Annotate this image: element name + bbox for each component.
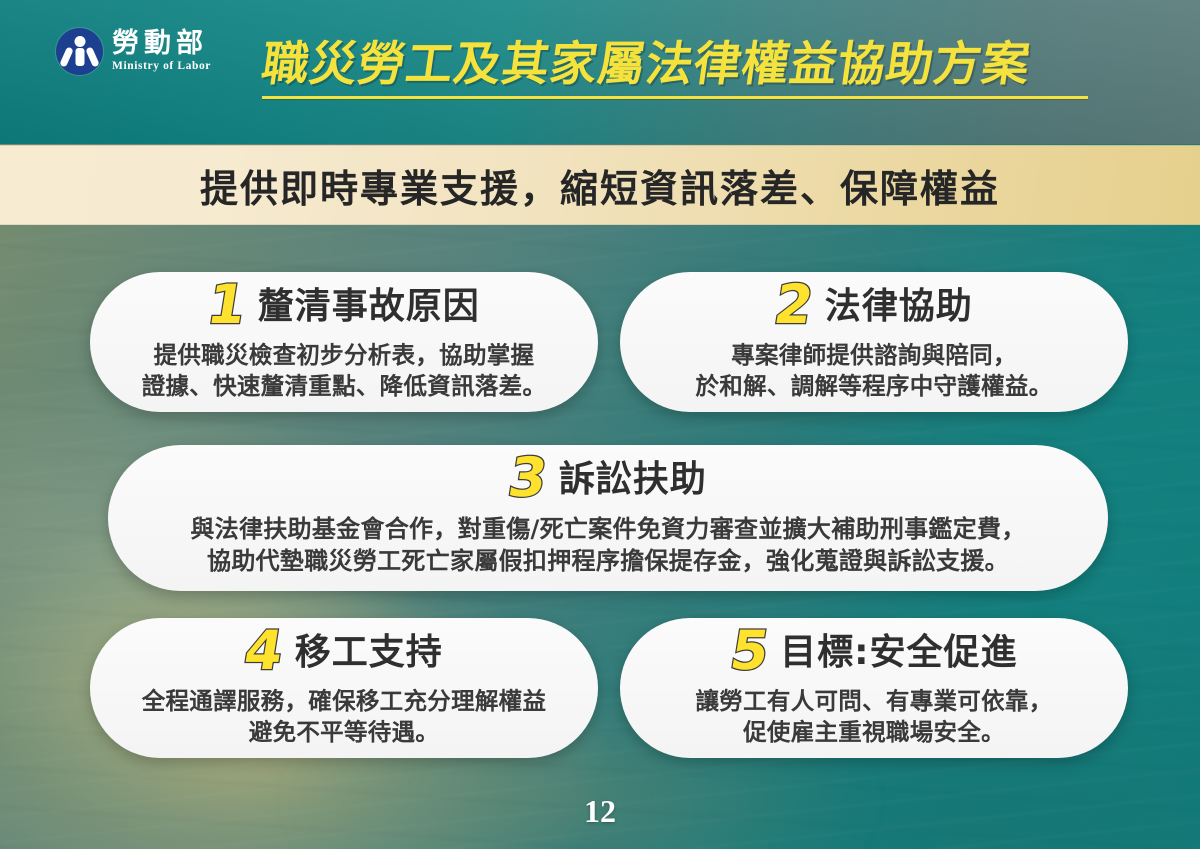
card-5-body-line-2: 促使雇主重視職場安全。 — [696, 717, 1053, 748]
page-number: 12 — [0, 793, 1200, 830]
emblem-right-arm-shape — [85, 46, 100, 67]
logo-name-en: Ministry of Labor — [112, 61, 211, 73]
card-1-body: 提供職災檢查初步分析表，協助掌握 證據、快速釐清重點、降低資訊落差。 — [142, 340, 547, 403]
subtitle-banner: 提供即時專業支援，縮短資訊落差、保障權益 — [0, 145, 1200, 225]
card-1-body-line-1: 提供職災檢查初步分析表，協助掌握 — [142, 340, 547, 371]
info-card-2: 2 法律協助 專案律師提供諮詢與陪同， 於和解、調解等程序中守護權益。 — [620, 272, 1128, 412]
header-bar: 勞動部 Ministry of Labor 職災勞工及其家屬法律權益協助方案 — [0, 0, 1200, 144]
card-3-header: 3 訴訟扶助 — [509, 453, 707, 507]
ministry-of-labor-emblem-icon — [56, 28, 103, 75]
subtitle-text: 提供即時專業支援，縮短資訊落差、保障權益 — [200, 158, 1000, 213]
emblem-body-shape — [75, 48, 84, 66]
card-3-body-line-2: 協助代墊職災勞工死亡家屬假扣押程序擔保提存金，強化蒐證與訴訟支援。 — [190, 545, 1025, 577]
card-1-number: 1 — [204, 278, 250, 332]
card-3-body-line-1: 與法律扶助基金會合作，對重傷/死亡案件免資力審查並擴大補助刑事鑑定費， — [190, 513, 1025, 545]
card-2-body-line-2: 於和解、調解等程序中守護權益。 — [696, 371, 1053, 402]
logo-text-block: 勞動部 Ministry of Labor — [112, 30, 211, 73]
card-5-body: 讓勞工有人可問、有專業可依靠， 促使雇主重視職場安全。 — [696, 686, 1053, 749]
card-4-number: 4 — [241, 624, 287, 678]
card-1-header: 1 釐清事故原因 — [208, 280, 480, 334]
slide-canvas: 勞動部 Ministry of Labor 職災勞工及其家屬法律權益協助方案 提… — [0, 0, 1200, 849]
page-title: 職災勞工及其家屬法律權益協助方案 — [259, 40, 1116, 89]
card-4-title: 移工支持 — [295, 635, 443, 671]
card-3-body: 與法律扶助基金會合作，對重傷/死亡案件免資力審查並擴大補助刑事鑑定費， 協助代墊… — [190, 513, 1025, 577]
card-3-number: 3 — [505, 451, 551, 505]
card-5-body-line-1: 讓勞工有人可問、有專業可依靠， — [696, 686, 1053, 717]
card-4-body-line-1: 全程通譯服務，確保移工充分理解權益 — [142, 686, 547, 717]
card-4-body: 全程通譯服務，確保移工充分理解權益 避免不平等待遇。 — [142, 686, 547, 749]
card-5-title: 目標:安全促進 — [780, 635, 1017, 671]
card-3-title: 訴訟扶助 — [559, 462, 707, 498]
emblem-left-arm-shape — [59, 46, 74, 67]
card-5-number: 5 — [726, 624, 772, 678]
card-4-body-line-2: 避免不平等待遇。 — [142, 717, 547, 748]
emblem-head-shape — [74, 36, 85, 47]
card-2-body-line-1: 專案律師提供諮詢與陪同， — [696, 340, 1053, 371]
info-card-1: 1 釐清事故原因 提供職災檢查初步分析表，協助掌握 證據、快速釐清重點、降低資訊… — [90, 272, 598, 412]
card-5-header: 5 目標:安全促進 — [731, 626, 1018, 680]
card-1-body-line-2: 證據、快速釐清重點、降低資訊落差。 — [142, 371, 547, 402]
card-2-body: 專案律師提供諮詢與陪同， 於和解、調解等程序中守護權益。 — [696, 340, 1053, 403]
logo-name-zh: 勞動部 — [112, 30, 211, 57]
info-card-4: 4 移工支持 全程通譯服務，確保移工充分理解權益 避免不平等待遇。 — [90, 618, 598, 758]
info-card-5: 5 目標:安全促進 讓勞工有人可問、有專業可依靠， 促使雇主重視職場安全。 — [620, 618, 1128, 758]
card-2-title: 法律協助 — [825, 289, 973, 325]
card-2-number: 2 — [771, 278, 817, 332]
card-4-header: 4 移工支持 — [245, 626, 443, 680]
title-underline — [262, 96, 1088, 99]
info-card-3: 3 訴訟扶助 與法律扶助基金會合作，對重傷/死亡案件免資力審查並擴大補助刑事鑑定… — [108, 445, 1108, 591]
card-1-title: 釐清事故原因 — [258, 289, 480, 325]
card-2-header: 2 法律協助 — [775, 280, 973, 334]
logo: 勞動部 Ministry of Labor — [56, 28, 211, 75]
title-block: 職災勞工及其家屬法律權益協助方案 — [262, 40, 1112, 99]
